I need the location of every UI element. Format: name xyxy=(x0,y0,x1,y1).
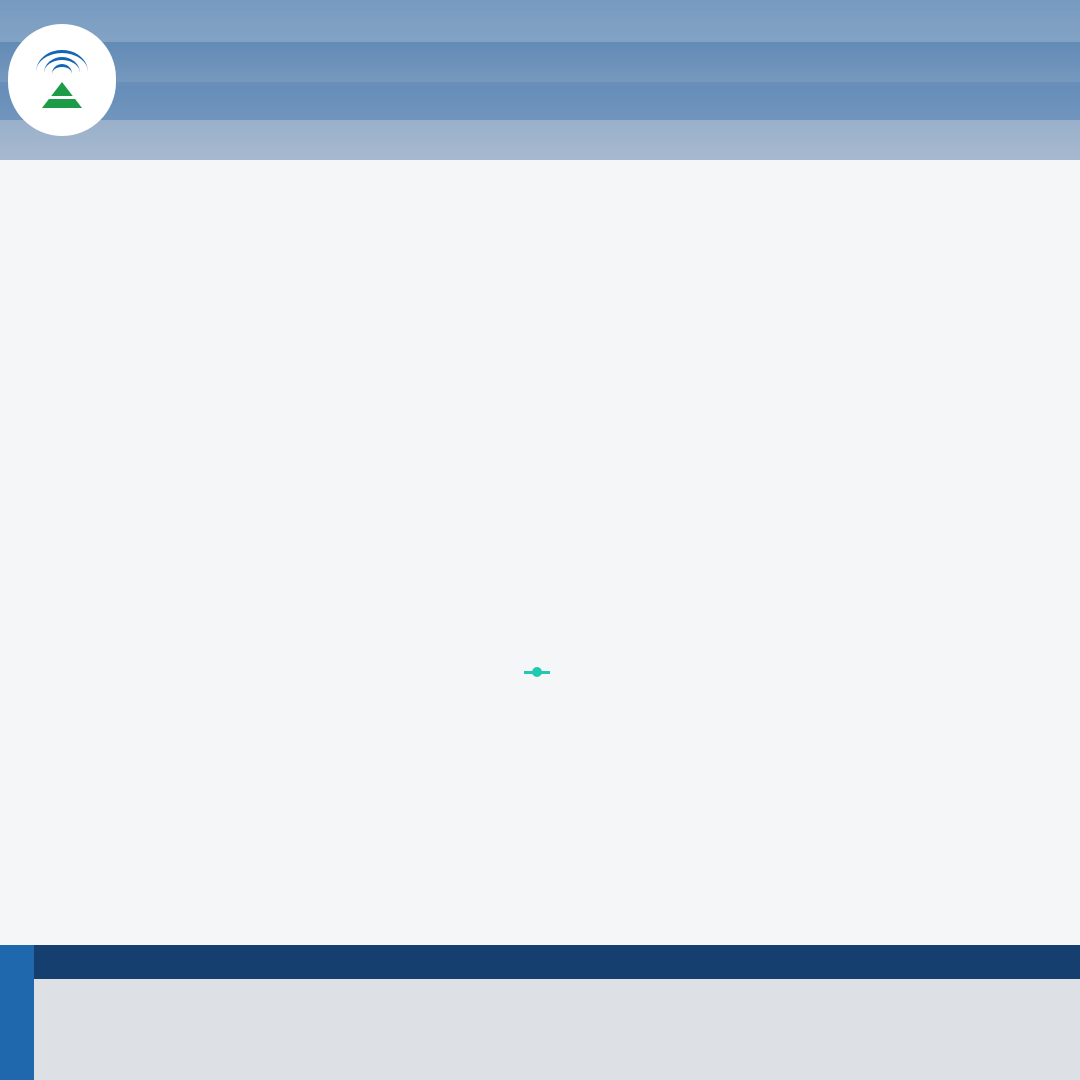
bmkg-logo xyxy=(8,24,116,136)
logo-arcs-icon xyxy=(34,50,90,80)
validity-row xyxy=(0,176,1080,195)
sst-chart xyxy=(18,556,1062,686)
legend-note-bar xyxy=(34,945,1080,979)
chart-legend-marker-icon xyxy=(524,671,550,674)
legend-side-tab xyxy=(0,945,34,1080)
legend-bar xyxy=(0,945,1080,1080)
header-tint-overlay xyxy=(0,0,1080,160)
chart-legend xyxy=(18,664,1062,679)
title-block xyxy=(0,176,1080,195)
legend-items xyxy=(34,979,1080,1080)
logo-triangle-icon xyxy=(42,82,82,108)
page-header xyxy=(0,0,1080,160)
